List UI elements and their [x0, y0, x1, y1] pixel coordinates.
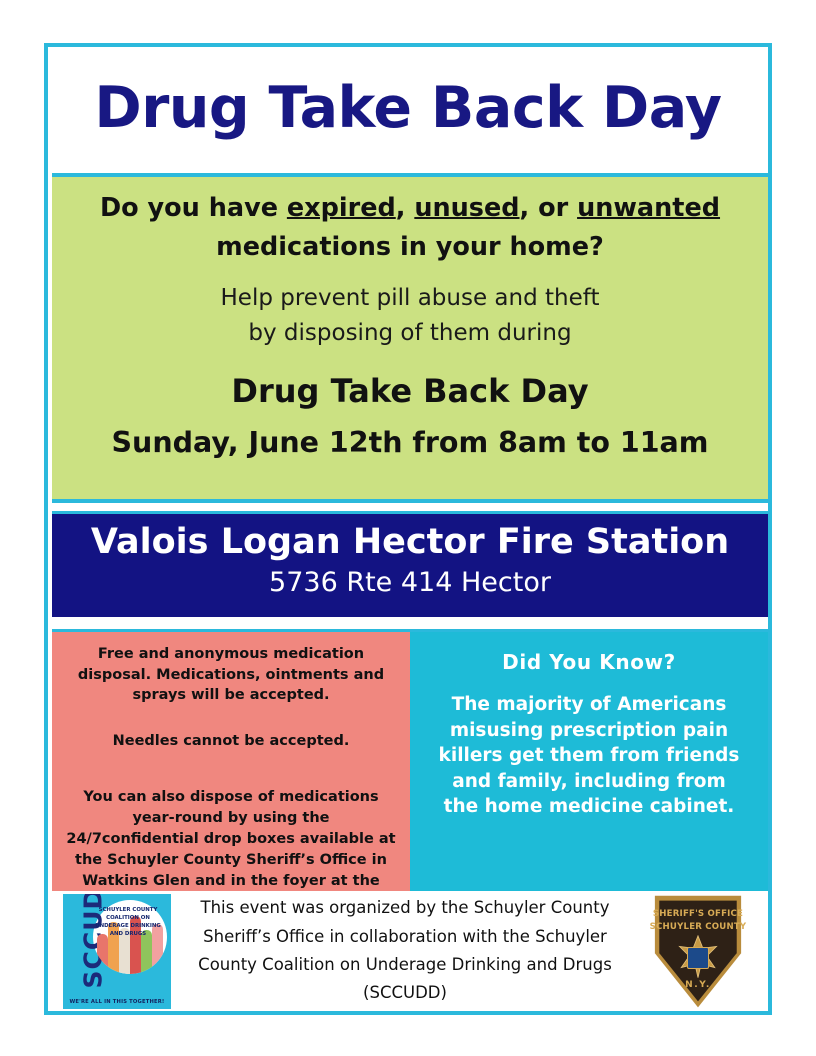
- venue-address: 5736 Rte 414 Hector: [52, 567, 768, 599]
- event-name: Drug Take Back Day: [52, 372, 768, 410]
- disposal-info-panel: Free and anonymous medication disposal. …: [52, 632, 410, 891]
- subtext-line-2: by disposing of them during: [52, 316, 768, 352]
- sccudd-mission-text: SCHUYLER COUNTY COALITION ON UNDERAGE DR…: [95, 906, 161, 938]
- sccudd-tagline: WE'RE ALL IN THIS TOGETHER!: [63, 999, 171, 1005]
- sheriff-badge-slot: SHERIFF'S OFFICE SCHUYLER COUNTY N.Y.: [628, 894, 768, 1009]
- did-you-know-body: The majority of Americans misusing presc…: [432, 692, 746, 820]
- ny-state-seal-icon: [687, 947, 709, 969]
- badge-line-2: SCHUYLER COUNTY: [649, 922, 747, 932]
- footer-row: SCHUYLER COUNTY COALITION ON UNDERAGE DR…: [52, 891, 768, 1011]
- info-panels-row: Free and anonymous medication disposal. …: [52, 629, 768, 891]
- subtext-line-1: Help prevent pill abuse and theft: [52, 281, 768, 317]
- sheriff-badge-icon: SHERIFF'S OFFICE SCHUYLER COUNTY N.Y.: [649, 894, 747, 1009]
- question-sep-2: , or: [520, 193, 578, 223]
- event-datetime: Sunday, June 12th from 8am to 11am: [52, 426, 768, 460]
- disposal-paragraph-1: Free and anonymous medication disposal. …: [64, 644, 398, 706]
- footer-credit-slot: This event was organized by the Schuyler…: [182, 894, 628, 1008]
- badge-line-3: N.Y.: [649, 980, 747, 990]
- page-title: Drug Take Back Day: [94, 80, 721, 137]
- flyer-poster: Drug Take Back Day Do you have expired, …: [44, 43, 772, 1015]
- question-sep-1: ,: [396, 193, 415, 223]
- green-info-band: Do you have expired, unused, or unwanted…: [52, 173, 768, 503]
- disposal-paragraph-2: Needles cannot be accepted.: [64, 731, 398, 752]
- did-you-know-heading: Did You Know?: [432, 650, 746, 674]
- question-line-2: medications in your home?: [52, 228, 768, 267]
- footer-credit-text: This event was organized by the Schuyler…: [182, 894, 628, 1008]
- venue-name: Valois Logan Hector Fire Station: [52, 522, 768, 563]
- question-prefix: Do you have: [100, 193, 287, 223]
- did-you-know-panel: Did You Know? The majority of Americans …: [410, 632, 768, 891]
- keyword-unwanted: unwanted: [577, 193, 720, 223]
- badge-line-1: SHERIFF'S OFFICE: [649, 909, 747, 919]
- question-line-1: Do you have expired, unused, or unwanted: [52, 189, 768, 228]
- keyword-unused: unused: [414, 193, 519, 223]
- sccudd-logo-slot: SCHUYLER COUNTY COALITION ON UNDERAGE DR…: [52, 894, 182, 1009]
- sccudd-logo: SCHUYLER COUNTY COALITION ON UNDERAGE DR…: [63, 894, 171, 1009]
- venue-band: Valois Logan Hector Fire Station 5736 Rt…: [52, 511, 768, 617]
- keyword-expired: expired: [287, 193, 396, 223]
- title-band: Drug Take Back Day: [48, 47, 768, 169]
